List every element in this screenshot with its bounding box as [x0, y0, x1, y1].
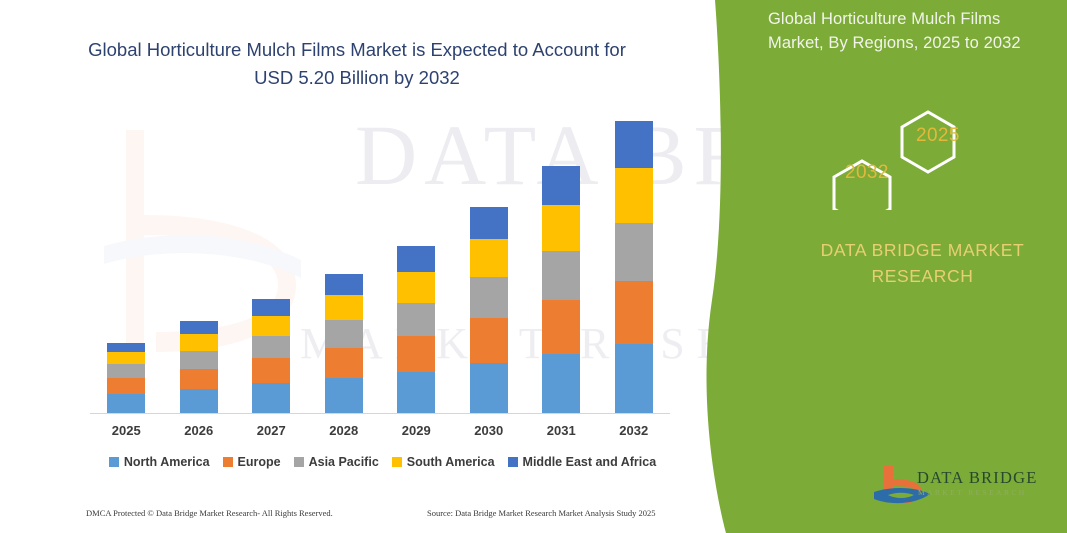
bar-segment: [180, 334, 218, 351]
bar-segment: [615, 168, 653, 223]
bar-segment: [542, 166, 580, 205]
infographic-root: DATA BRIDGE MARKET RESEARCH Global Horti…: [0, 0, 1067, 533]
bar-segment: [107, 378, 145, 394]
bar-segment: [615, 223, 653, 281]
bar-segment: [542, 354, 580, 413]
bar-segment: [180, 351, 218, 369]
legend-swatch-icon: [109, 457, 119, 467]
bar-segment: [107, 352, 145, 364]
bar-segment: [470, 363, 508, 413]
bar-segment: [470, 207, 508, 239]
footer-source-text: Source: Data Bridge Market Research Mark…: [427, 508, 656, 518]
bar-segment: [615, 121, 653, 168]
bar-segment: [252, 336, 290, 359]
footer-logo-text: DATA BRIDGE: [917, 468, 1038, 488]
bar-segment: [542, 205, 580, 251]
bar-segment: [615, 281, 653, 344]
chart-legend: North AmericaEuropeAsia PacificSouth Ame…: [90, 455, 675, 469]
x-axis-line: [90, 413, 670, 414]
legend-item[interactable]: Middle East and Africa: [508, 455, 657, 469]
x-axis-label-2027: 2027: [252, 423, 290, 438]
bar-segment: [180, 321, 218, 334]
bar-segment: [470, 318, 508, 363]
legend-label: Middle East and Africa: [523, 455, 657, 469]
bar-segment: [397, 246, 435, 272]
chart-title: Global Horticulture Mulch Films Market i…: [72, 36, 642, 92]
brand-name: DATA BRIDGE MARKET RESEARCH: [790, 237, 1055, 290]
legend-item[interactable]: Europe: [223, 455, 281, 469]
bar-2030: [470, 207, 508, 413]
legend-label: Asia Pacific: [309, 455, 379, 469]
x-axis-label-2025: 2025: [107, 423, 145, 438]
x-axis-labels: 20252026202720282029203020312032: [90, 423, 670, 438]
bar-2026: [180, 321, 218, 413]
bar-segment: [470, 239, 508, 277]
bar-segment: [325, 378, 363, 413]
bar-segment: [325, 320, 363, 348]
footer-logo: DATA BRIDGE MARKET RESEARCH: [872, 462, 1052, 514]
bar-segment: [325, 274, 363, 295]
bar-segment: [252, 358, 290, 383]
hexagon-label-2032: 2032: [845, 162, 889, 184]
bar-segment: [107, 343, 145, 353]
legend-label: South America: [407, 455, 495, 469]
footer-logo-subtext: MARKET RESEARCH: [918, 488, 1027, 497]
hexagon-label-2025: 2025: [916, 125, 960, 147]
hexagon-group: 2025 2032: [810, 85, 1010, 210]
legend-item[interactable]: North America: [109, 455, 210, 469]
bar-segment: [180, 389, 218, 413]
bar-2027: [252, 299, 290, 413]
legend-swatch-icon: [508, 457, 518, 467]
bar-segment: [542, 300, 580, 354]
bar-segment: [252, 299, 290, 316]
panel-title: Global Horticulture Mulch Films Market, …: [768, 8, 1060, 56]
bar-2031: [542, 166, 580, 413]
legend-item[interactable]: Asia Pacific: [294, 455, 379, 469]
x-axis-label-2026: 2026: [180, 423, 218, 438]
stacked-bar-chart: [90, 120, 670, 416]
legend-label: Europe: [238, 455, 281, 469]
legend-swatch-icon: [223, 457, 233, 467]
bar-2025: [107, 343, 145, 413]
x-axis-label-2029: 2029: [397, 423, 435, 438]
bar-segment: [470, 277, 508, 318]
bar-segment: [325, 348, 363, 379]
bar-segment: [180, 369, 218, 389]
bar-segment: [252, 316, 290, 336]
bar-segment: [615, 344, 653, 413]
bar-2032: [615, 121, 653, 413]
legend-item[interactable]: South America: [392, 455, 495, 469]
legend-label: North America: [124, 455, 210, 469]
footer-dmca-text: DMCA Protected © Data Bridge Market Rese…: [86, 508, 333, 518]
bar-segment: [397, 336, 435, 372]
x-axis-label-2030: 2030: [470, 423, 508, 438]
x-axis-label-2031: 2031: [542, 423, 580, 438]
hexagon-outlines-icon: [810, 85, 1010, 210]
bar-segment: [107, 394, 145, 413]
legend-swatch-icon: [392, 457, 402, 467]
x-axis-label-2032: 2032: [615, 423, 653, 438]
bar-2029: [397, 246, 435, 413]
plot-area: [90, 120, 670, 413]
bar-segment: [397, 303, 435, 336]
bar-segment: [325, 295, 363, 320]
bar-segment: [252, 383, 290, 413]
legend-swatch-icon: [294, 457, 304, 467]
bar-segment: [397, 372, 435, 413]
bar-2028: [325, 274, 363, 413]
bar-segment: [542, 251, 580, 300]
x-axis-label-2028: 2028: [325, 423, 363, 438]
bar-segment: [397, 272, 435, 303]
bar-segment: [107, 364, 145, 378]
